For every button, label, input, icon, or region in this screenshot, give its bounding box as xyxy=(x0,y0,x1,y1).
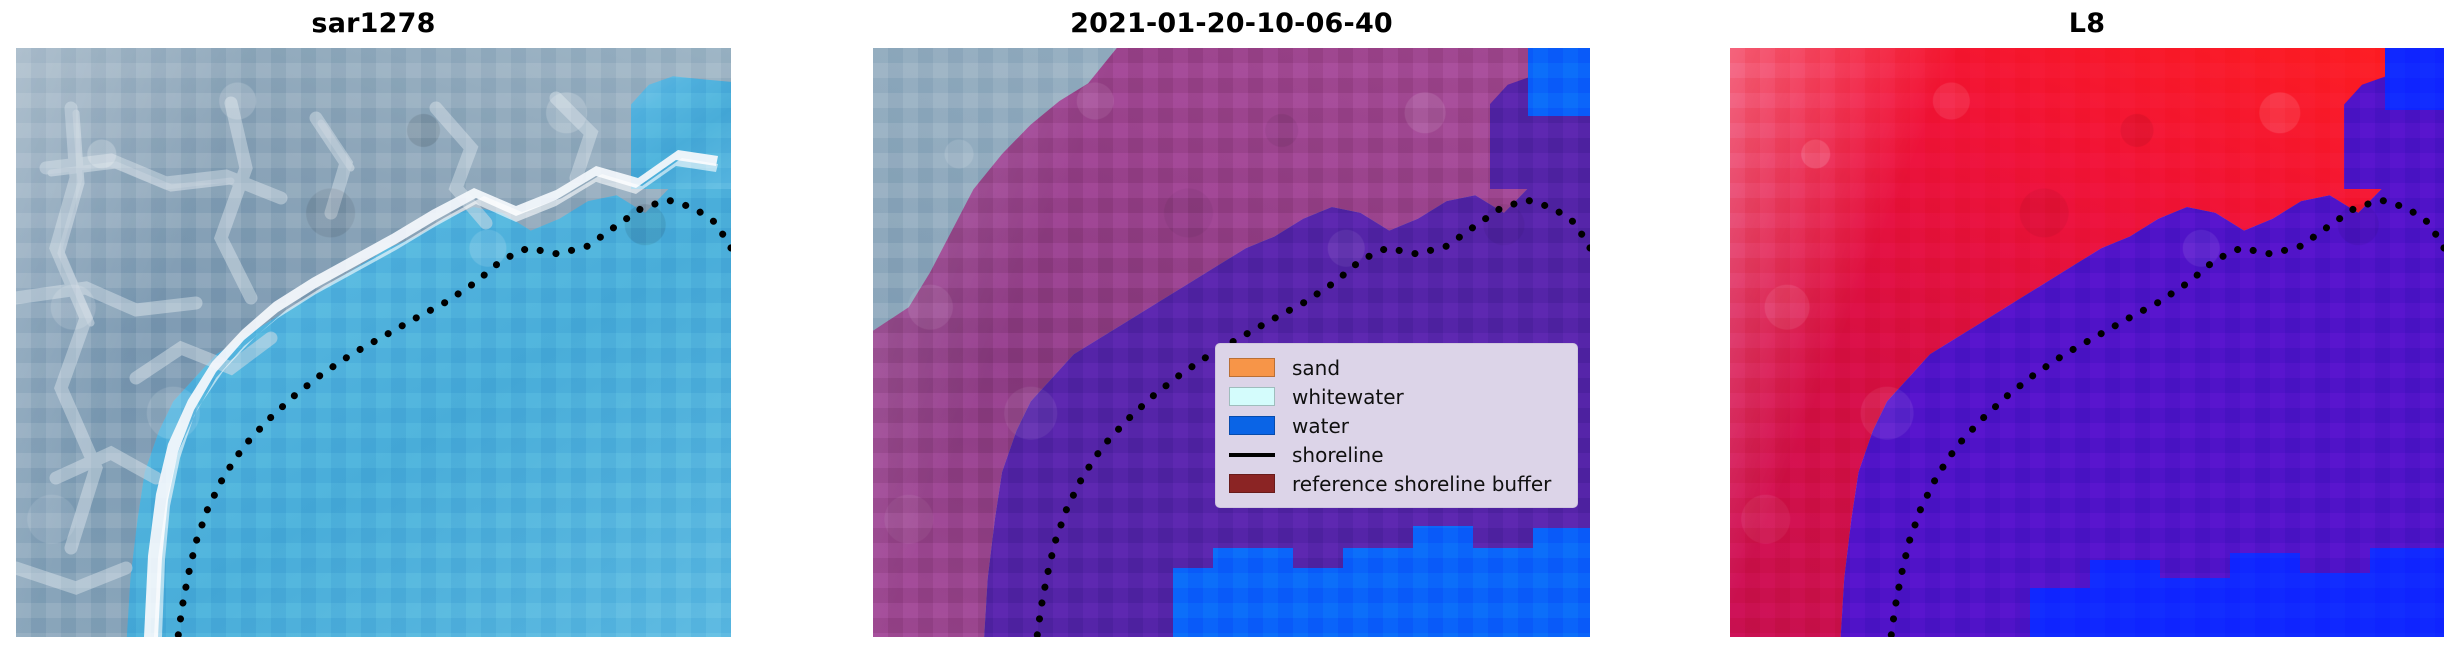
legend-label-reference-shoreline-buffer: reference shoreline buffer xyxy=(1292,474,1551,494)
legend-item-reference-shoreline-buffer: reference shoreline buffer xyxy=(1229,469,1566,498)
sar-whitewater-band xyxy=(16,48,731,637)
panel-classification-title: 2021-01-20-10-06-40 xyxy=(873,8,1590,39)
panel-l8-title: L8 xyxy=(1730,8,2444,39)
panel-sar: sar1278 xyxy=(16,48,731,637)
legend-swatch-reference-shoreline-buffer xyxy=(1229,474,1275,493)
panel-sar-title: sar1278 xyxy=(16,8,731,39)
legend-item-sand: sand xyxy=(1229,353,1566,382)
panel-sar-axes xyxy=(16,48,731,637)
legend-label-sand: sand xyxy=(1292,358,1340,378)
legend-item-whitewater: whitewater xyxy=(1229,382,1566,411)
panel-l8-axes xyxy=(1730,48,2444,637)
panel-l8: L8 xyxy=(1730,48,2444,637)
legend-item-shoreline: shoreline xyxy=(1229,440,1566,469)
legend-swatch-water xyxy=(1229,416,1275,435)
legend: sand whitewater water shoreline referenc… xyxy=(1215,343,1578,508)
legend-label-water: water xyxy=(1292,416,1349,436)
legend-item-water: water xyxy=(1229,411,1566,440)
legend-label-shoreline: shoreline xyxy=(1292,445,1384,465)
legend-swatch-whitewater xyxy=(1229,387,1275,406)
legend-swatch-shoreline xyxy=(1229,445,1275,464)
legend-swatch-sand xyxy=(1229,358,1275,377)
legend-label-whitewater: whitewater xyxy=(1292,387,1404,407)
figure-canvas: sar1278 xyxy=(0,0,2460,652)
l8-water-class xyxy=(1730,48,2444,637)
